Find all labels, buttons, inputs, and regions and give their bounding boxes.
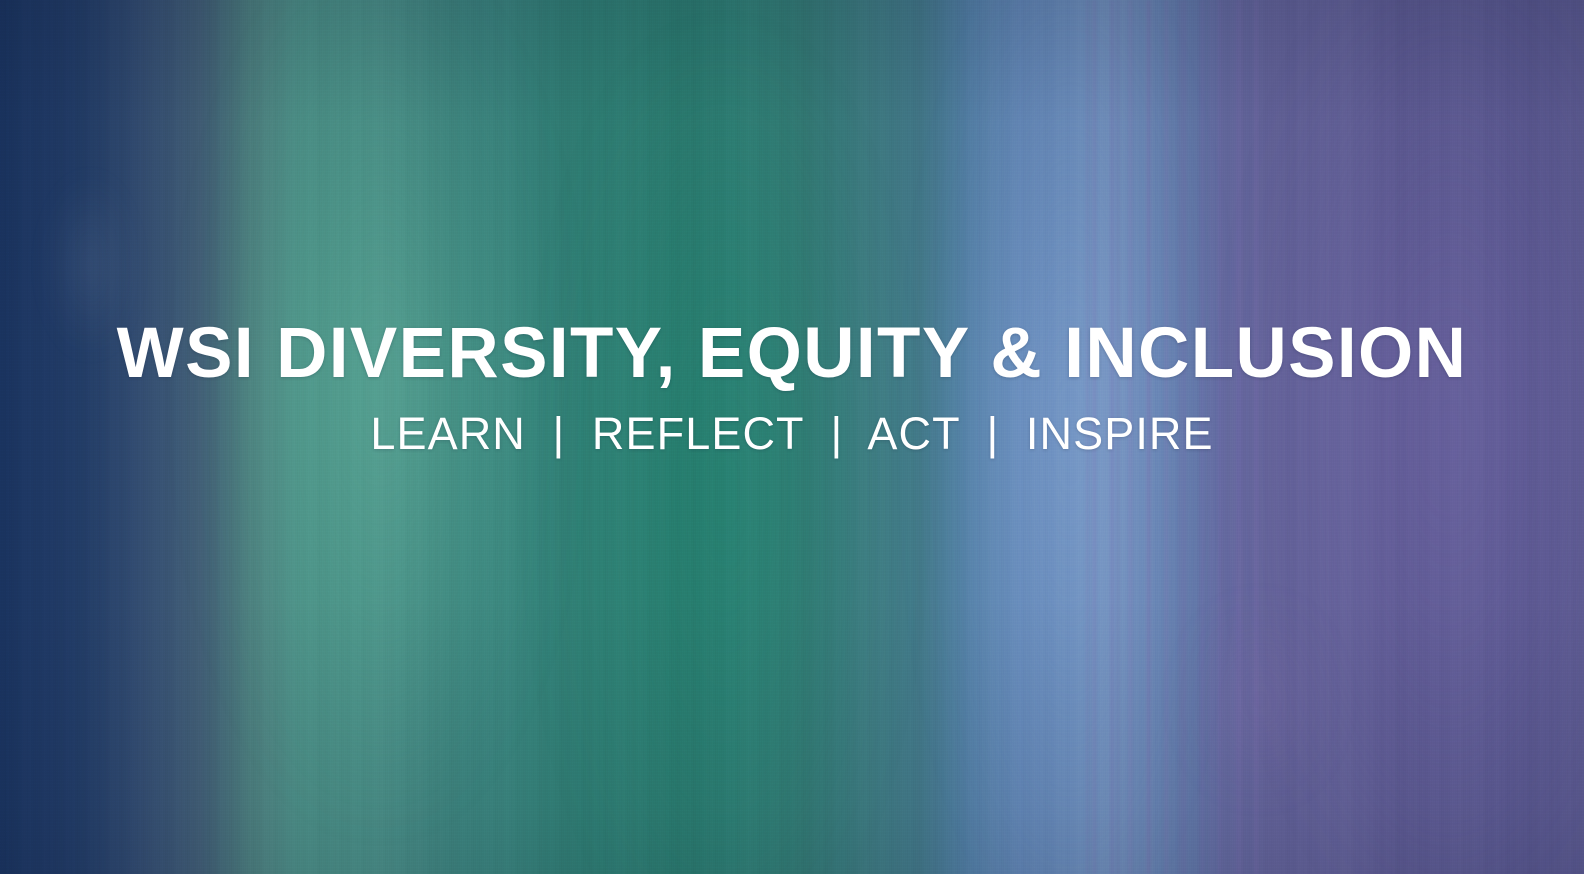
- subhead-item-reflect: REFLECT: [592, 408, 804, 459]
- subhead-separator-3: |: [973, 408, 1012, 459]
- subhead-separator-1: |: [540, 408, 579, 459]
- banner-content: WSI DIVERSITY, EQUITY & INCLUSION LEARN …: [0, 0, 1584, 874]
- subhead-separator-2: |: [817, 408, 856, 459]
- subhead-item-inspire: INSPIRE: [1026, 408, 1214, 459]
- subhead-item-act: ACT: [867, 408, 960, 459]
- dei-banner: WSI DIVERSITY, EQUITY & INCLUSION LEARN …: [0, 0, 1584, 874]
- banner-subheadline: LEARN | REFLECT | ACT | INSPIRE: [370, 411, 1213, 456]
- subhead-item-learn: LEARN: [370, 408, 526, 459]
- banner-headline: WSI DIVERSITY, EQUITY & INCLUSION: [117, 318, 1468, 389]
